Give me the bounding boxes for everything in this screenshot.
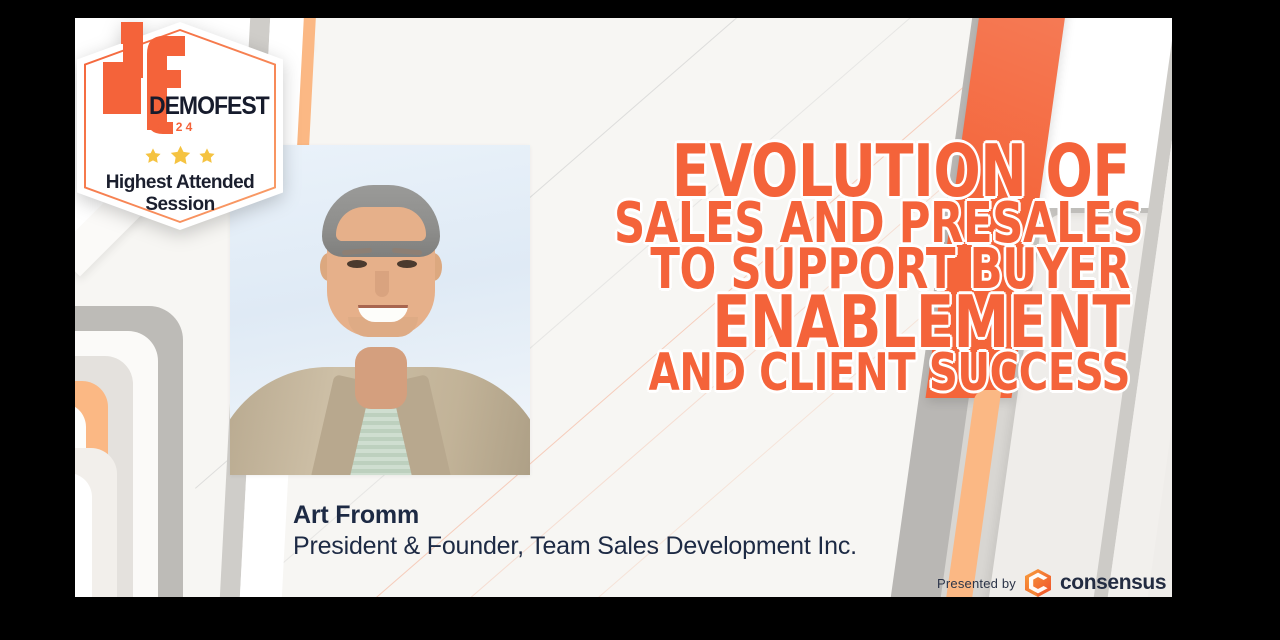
badge-stars [77,144,283,167]
right-shape-peach-stripe [935,390,1002,597]
title-line-5: AND CLIENT SUCCESS [614,352,1130,395]
star-icon [169,144,192,167]
headshot-neck [355,347,407,409]
headshot-forehead [336,207,426,241]
badge-award-line-1: Highest Attended [77,172,283,194]
left-shape-grey-3 [75,448,117,597]
speaker-name: Art Fromm [293,501,857,530]
star-icon [144,147,162,165]
badge-year: 2024 [156,120,196,134]
consensus-logo-icon [1025,569,1051,597]
award-badge: DEMOFEST 2024 Highest Attended Session [77,22,283,230]
left-shape-white-3 [75,473,92,597]
left-shape-white-2 [75,403,86,597]
slide-title: EVOLUTION OF SALES AND PRESALES TO SUPPO… [614,142,1130,395]
badge-event-name: DEMOFEST [149,92,269,121]
presented-by-block: Presented by c [937,569,1166,597]
left-shape-peach [75,381,108,597]
badge-award-line-2: Session [77,194,283,216]
consensus-wordmark: consensus [1060,571,1166,595]
left-shape-grey [75,306,183,597]
left-shape-grey-2 [75,356,133,597]
screenshot-canvas: EVOLUTION OF SALES AND PRESALES TO SUPPO… [0,0,1280,640]
star-icon [198,147,216,165]
headshot-eye-right [397,260,417,268]
headshot-nose [375,271,389,297]
presented-by-label: Presented by [937,576,1016,591]
speaker-block: Art Fromm President & Founder, Team Sale… [293,501,857,561]
left-shape-white [75,331,158,597]
headshot-eye-left [347,260,367,268]
speaker-role: President & Founder, Team Sales Developm… [293,531,857,561]
